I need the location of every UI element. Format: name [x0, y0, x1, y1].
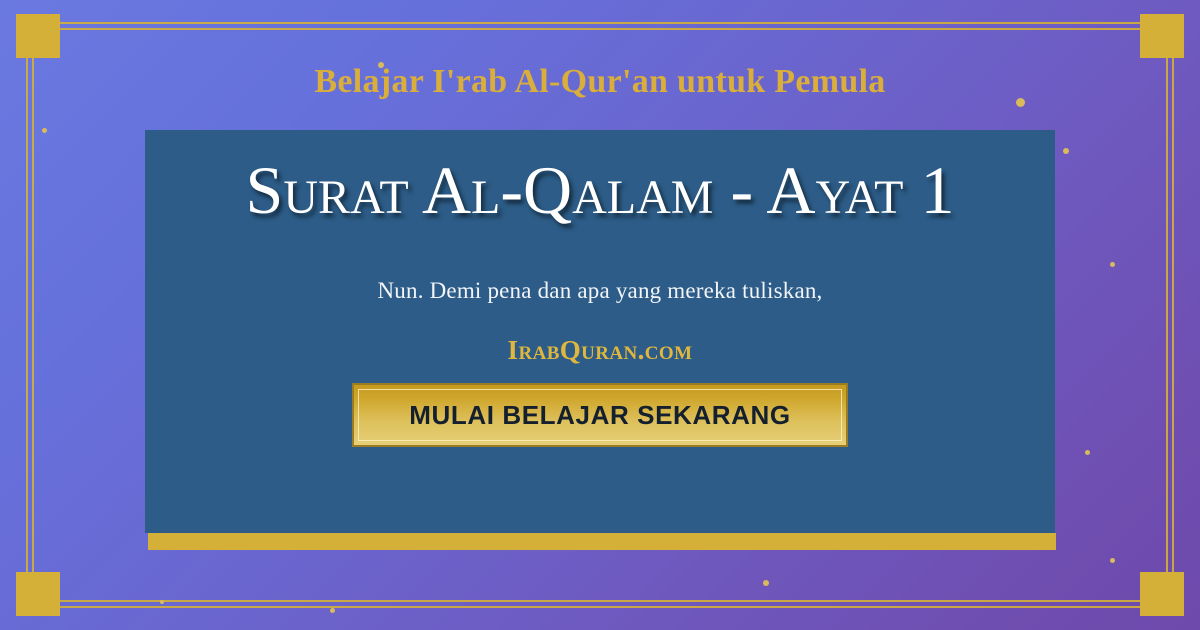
poster-canvas: Belajar I'rab Al-Qur'an untuk Pemula Sur… — [0, 0, 1200, 630]
card-gold-underbar — [148, 533, 1056, 550]
sparkle-dot — [1110, 262, 1115, 267]
sparkle-dot — [1063, 148, 1069, 154]
corner-square-bottom-left — [16, 572, 60, 616]
verse-translation: Nun. Demi pena dan apa yang mereka tulis… — [205, 278, 995, 304]
sparkle-dot — [330, 608, 335, 613]
start-learning-button-label: MULAI BELAJAR SEKARANG — [409, 400, 791, 431]
frame-line-right-outer — [1172, 22, 1174, 608]
corner-square-top-left — [16, 14, 60, 58]
sparkle-dot — [1085, 450, 1090, 455]
page-kicker: Belajar I'rab Al-Qur'an untuk Pemula — [0, 63, 1200, 101]
sparkle-dot — [42, 128, 47, 133]
frame-line-top-outer — [26, 22, 1174, 24]
frame-line-bottom-outer — [26, 606, 1174, 608]
frame-line-left-outer — [26, 22, 28, 608]
content-card: Surat Al-Qalam - Ayat 1 Nun. Demi pena d… — [145, 130, 1055, 533]
corner-square-bottom-right — [1140, 572, 1184, 616]
sparkle-dot — [1110, 558, 1115, 563]
frame-line-right-inner — [1166, 22, 1168, 608]
frame-line-left-inner — [32, 22, 34, 608]
page-title: Surat Al-Qalam - Ayat 1 — [145, 154, 1055, 227]
sparkle-dot — [160, 600, 164, 604]
frame-line-bottom-inner — [26, 600, 1174, 602]
start-learning-button[interactable]: MULAI BELAJAR SEKARANG — [352, 383, 848, 447]
brand-name: IrabQuran.com — [145, 335, 1055, 366]
sparkle-dot — [763, 580, 769, 586]
frame-line-top-inner — [26, 28, 1174, 30]
corner-square-top-right — [1140, 14, 1184, 58]
